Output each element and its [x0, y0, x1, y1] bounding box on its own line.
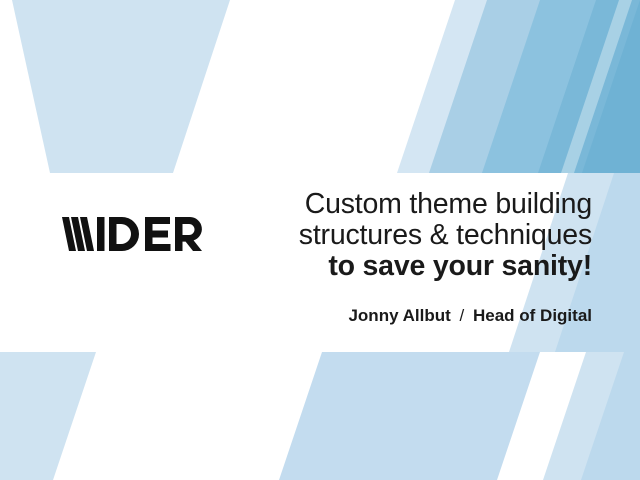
- slide-byline: Jonny Allbut / Head of Digital: [172, 305, 592, 326]
- byline-separator: /: [456, 306, 469, 325]
- title-line-3: to save your sanity!: [172, 251, 592, 282]
- slide-title: Custom theme building structures & techn…: [172, 189, 592, 282]
- title-line-1: Custom theme building: [172, 189, 592, 220]
- presenter-role: Head of Digital: [473, 306, 592, 325]
- title-line-2: structures & techniques: [172, 220, 592, 251]
- presentation-slide: Custom theme building structures & techn…: [0, 0, 640, 480]
- presenter-name: Jonny Allbut: [348, 306, 450, 325]
- slide-content: Custom theme building structures & techn…: [0, 0, 640, 480]
